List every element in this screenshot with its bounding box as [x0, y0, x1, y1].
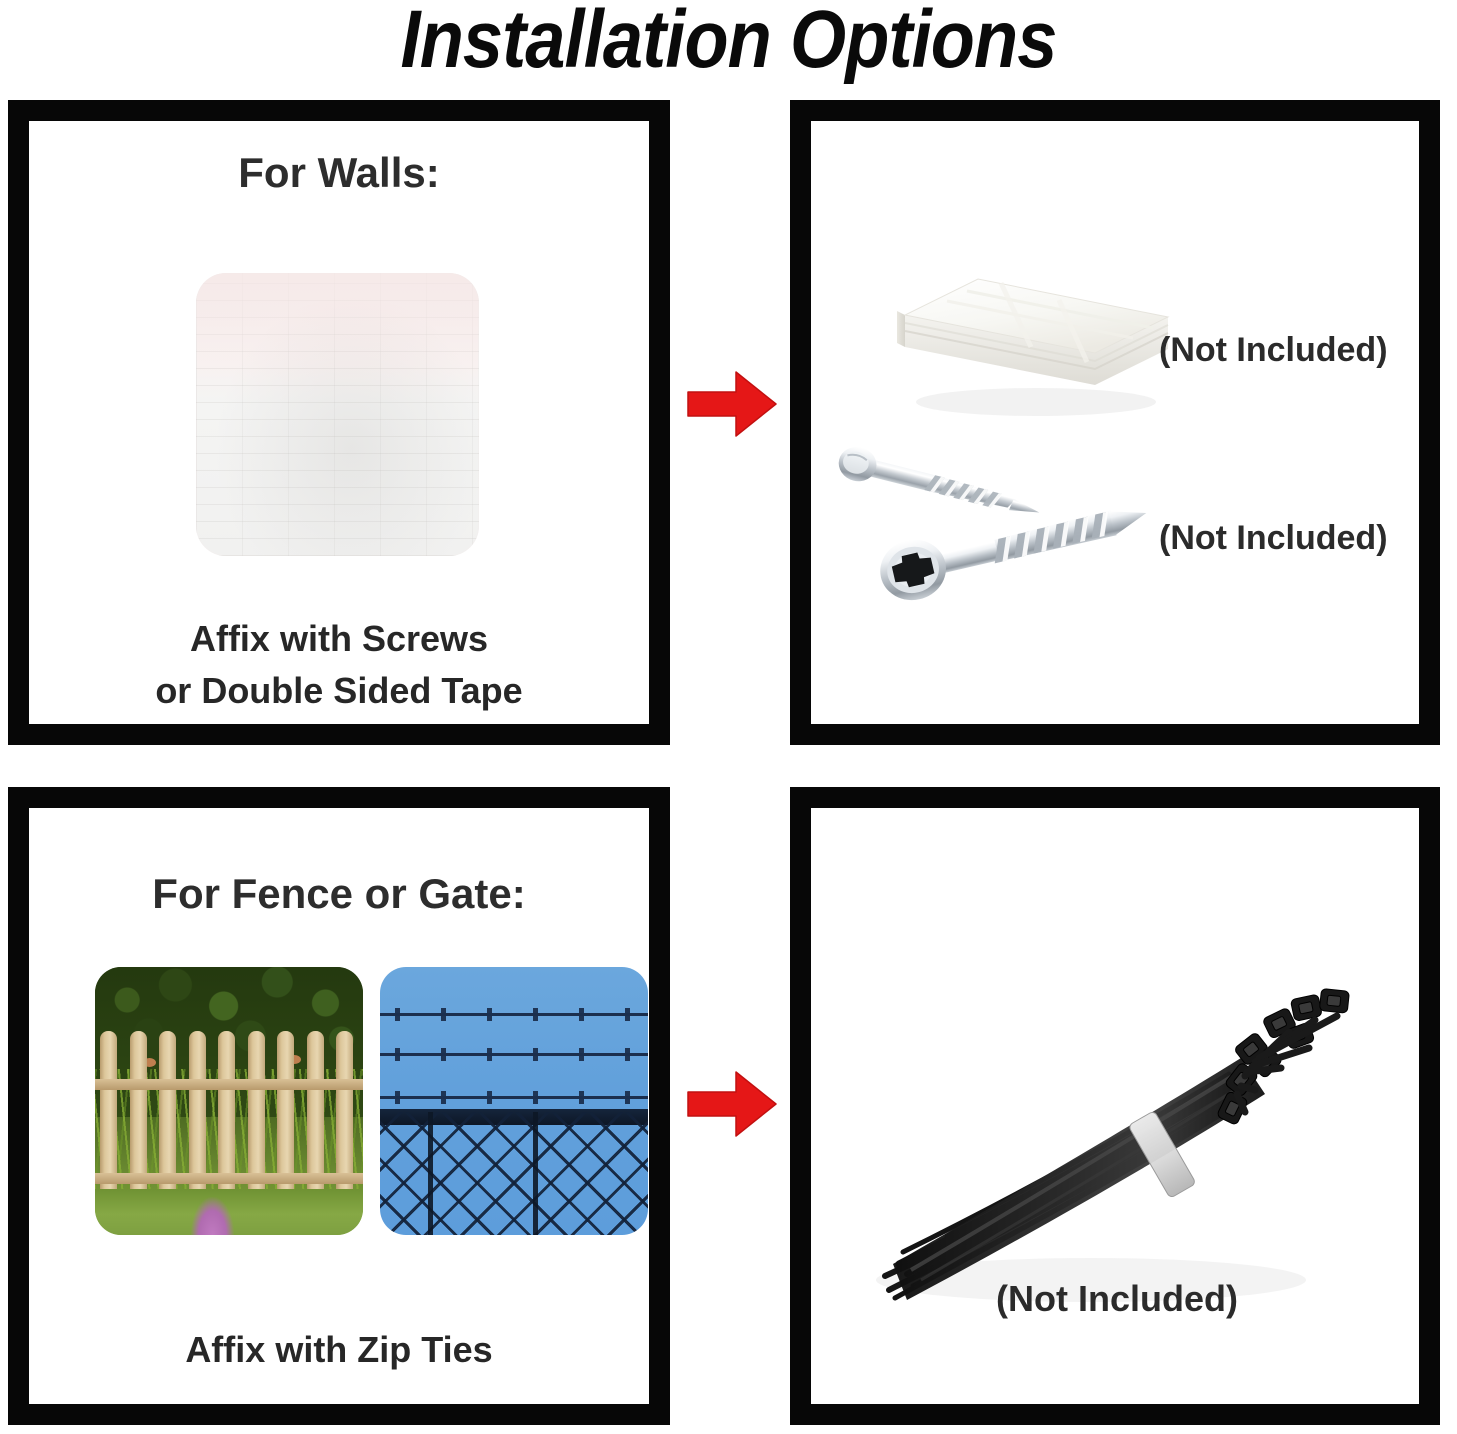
walls-heading: For Walls: [29, 149, 649, 197]
wooden-picket-fence-photo [95, 967, 363, 1235]
panel-wall-hardware: (Not Included) [790, 100, 1440, 745]
panel-zip-ties-hardware: (Not Included) [790, 787, 1440, 1425]
double-sided-tape-stack-icon [881, 239, 1181, 434]
red-right-arrow-icon [686, 368, 778, 445]
chain-link-mesh [380, 1112, 648, 1235]
white-brick-wall-photo [196, 273, 479, 556]
fence-pickets [95, 1031, 363, 1213]
tape-not-included-label: (Not Included) [1159, 331, 1388, 370]
brick-shading [196, 273, 479, 556]
panel-for-fence-or-gate: For Fence or Gate: [8, 787, 670, 1425]
garden-path [191, 1197, 234, 1235]
walls-caption-line1: Affix with Screws [29, 613, 649, 665]
screws-icon [831, 439, 1161, 629]
red-right-arrow-icon-2 [686, 1068, 778, 1145]
screws-not-included-label: (Not Included) [1159, 519, 1388, 558]
panel-for-walls: For Walls: Affix with Screws or Double S… [8, 100, 670, 745]
page-title: Installation Options [87, 0, 1369, 86]
chain-link-fence-photo [380, 967, 648, 1235]
zipties-not-included-label: (Not Included) [996, 1278, 1238, 1320]
zip-ties-bundle-icon [841, 908, 1381, 1333]
fence-caption-line1: Affix with Zip Ties [29, 1324, 649, 1376]
fence-heading: For Fence or Gate: [29, 870, 649, 918]
walls-caption-line2: or Double Sided Tape [29, 665, 649, 717]
